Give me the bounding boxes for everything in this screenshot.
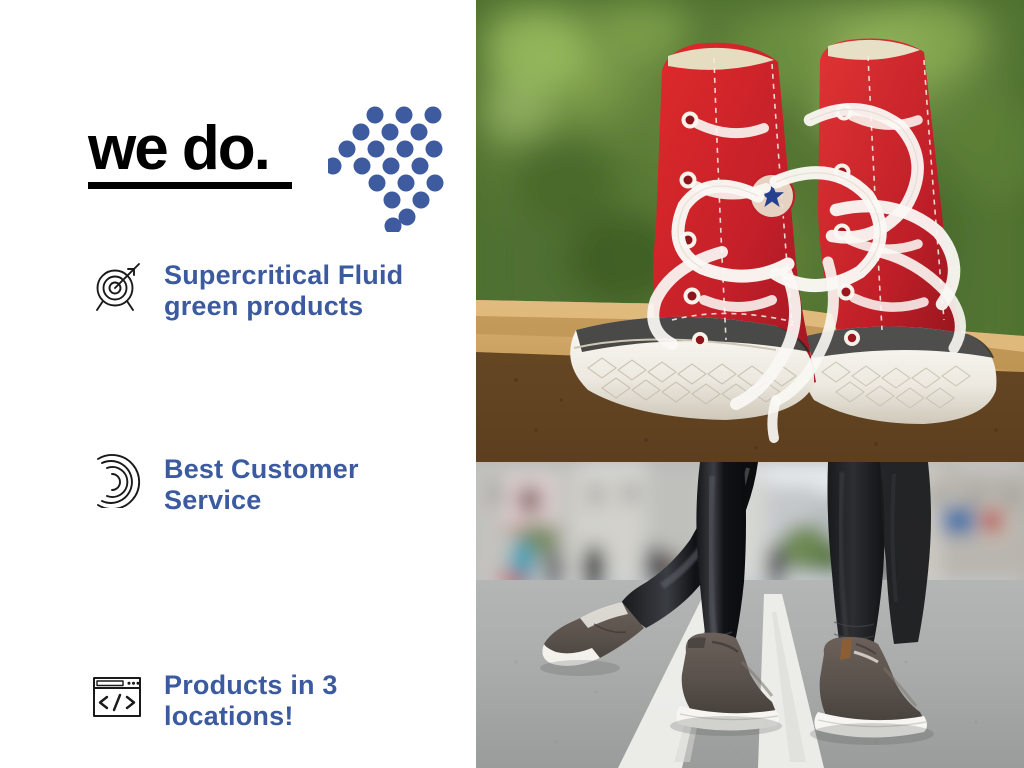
feature-label-products-in-3-locations: Products in 3 locations! [164, 668, 460, 732]
feature-item-products-in-3-locations[interactable]: Products in 3 locations! [88, 668, 460, 732]
left-content-panel: we do. [0, 0, 476, 768]
couple-legs-crosswalk-photo [476, 462, 1024, 768]
target-arrow-icon [88, 258, 146, 316]
dot-arrow-logo-icon [328, 104, 452, 232]
brand-lockup: we do. [88, 104, 458, 240]
feature-label-best-customer-service: Best Customer Service [164, 452, 460, 516]
red-high-top-sneakers-photo [476, 0, 1024, 462]
code-window-icon [88, 668, 146, 726]
photo-collage-panel [476, 0, 1024, 768]
page-title: we do. [88, 118, 269, 180]
feature-item-supercritical-fluid[interactable]: Supercritical Fluid green products [88, 258, 460, 322]
title-underline [88, 182, 292, 189]
feature-item-best-customer-service[interactable]: Best Customer Service [88, 452, 460, 516]
slide-canvas: we do. [0, 0, 1024, 768]
feature-label-supercritical-fluid: Supercritical Fluid green products [164, 258, 460, 322]
spiral-signal-icon [88, 452, 146, 510]
